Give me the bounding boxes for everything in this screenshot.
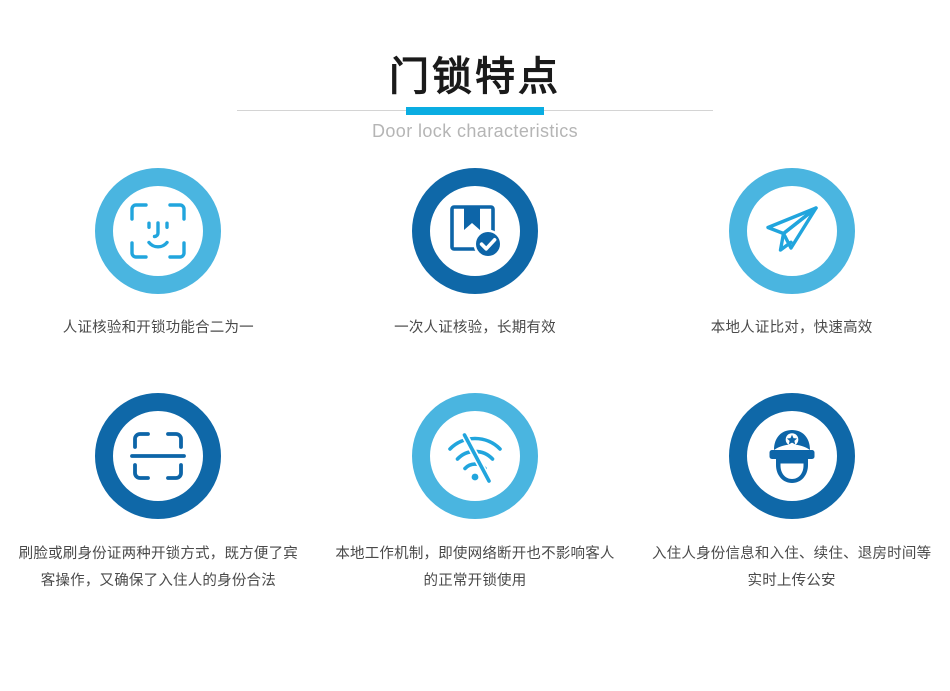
page-subtitle: Door lock characteristics: [0, 119, 950, 143]
title-divider: [237, 107, 713, 115]
paper-plane-icon: [761, 200, 823, 262]
feature-caption-6: 入住人身份信息和入住、续住、退房时间等实时上传公安: [652, 541, 932, 595]
door-lock-features-page: 门锁特点 Door lock characteristics: [0, 0, 950, 691]
wifi-off-icon: [444, 425, 506, 487]
page-header: 门锁特点 Door lock characteristics: [0, 0, 950, 160]
feature-item-4: 刷脸或刷身份证两种开锁方式，既方便了宾客操作，又确保了入住人的身份合法: [0, 393, 317, 643]
feature-item-2: 一次人证核验，长期有效: [317, 168, 634, 393]
id-scan-icon: [127, 425, 189, 487]
feature-item-1: 人证核验和开锁功能合二为一: [0, 168, 317, 393]
feature-icon-ring-3: [729, 168, 855, 294]
feature-caption-4: 刷脸或刷身份证两种开锁方式，既方便了宾客操作，又确保了入住人的身份合法: [18, 541, 298, 595]
feature-caption-1: 人证核验和开锁功能合二为一: [18, 315, 298, 342]
feature-caption-5: 本地工作机制，即使网络断开也不影响客人的正常开锁使用: [335, 541, 615, 595]
feature-row-1: 人证核验和开锁功能合二为一 一次人证核验，长期有效: [0, 168, 950, 393]
feature-caption-3: 本地人证比对，快速高效: [652, 315, 932, 342]
divider-accent-bar: [406, 107, 544, 115]
police-officer-icon: [761, 425, 823, 487]
book-check-icon: [444, 200, 506, 262]
feature-icon-ring-2: [412, 168, 538, 294]
feature-icon-ring-1: [95, 168, 221, 294]
feature-icon-ring-5: [412, 393, 538, 519]
face-id-icon: [127, 200, 189, 262]
feature-item-3: 本地人证比对，快速高效: [633, 168, 950, 393]
feature-icon-ring-4: [95, 393, 221, 519]
feature-caption-2: 一次人证核验，长期有效: [335, 315, 615, 342]
page-title: 门锁特点: [0, 53, 950, 101]
feature-row-2: 刷脸或刷身份证两种开锁方式，既方便了宾客操作，又确保了入住人的身份合法: [0, 393, 950, 643]
feature-item-5: 本地工作机制，即使网络断开也不影响客人的正常开锁使用: [317, 393, 634, 643]
feature-grid: 人证核验和开锁功能合二为一 一次人证核验，长期有效: [0, 168, 950, 643]
feature-icon-ring-6: [729, 393, 855, 519]
feature-item-6: 入住人身份信息和入住、续住、退房时间等实时上传公安: [633, 393, 950, 643]
